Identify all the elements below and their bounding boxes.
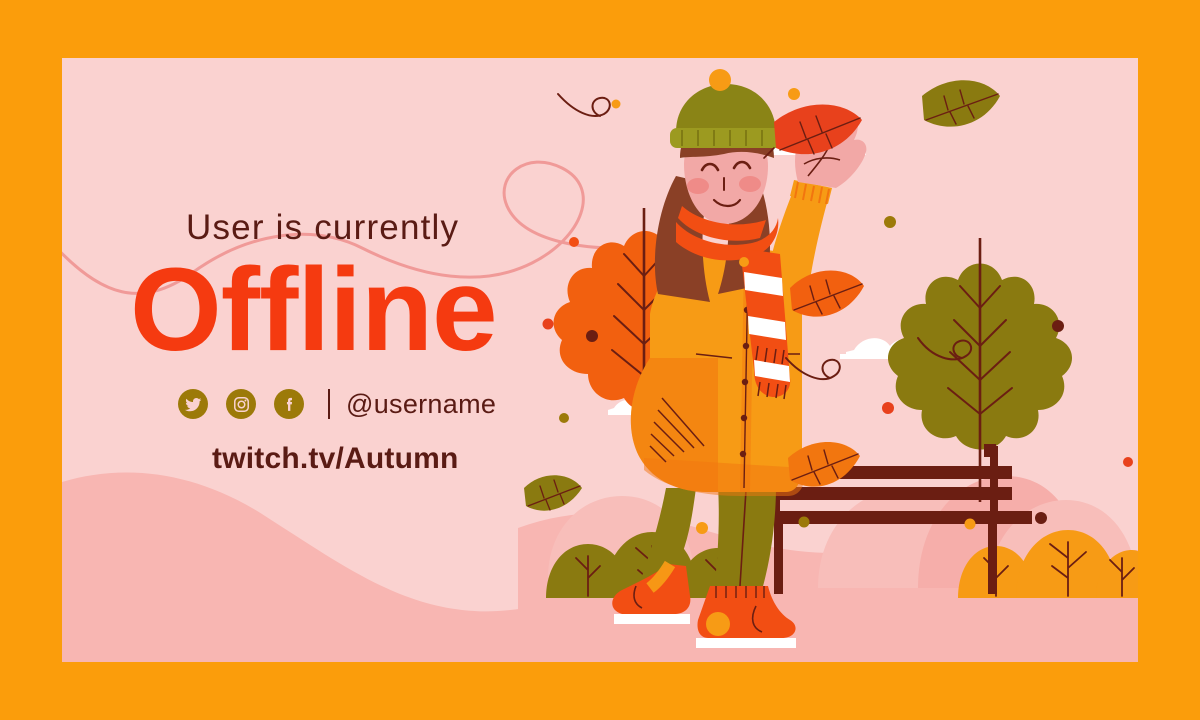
olive-tree bbox=[888, 238, 1072, 502]
username-handle: @username bbox=[346, 389, 496, 420]
facebook-icon[interactable] bbox=[274, 389, 304, 419]
channel-url[interactable]: twitch.tv/Autumn bbox=[212, 442, 630, 476]
leaf-olive-top-right bbox=[922, 80, 1000, 126]
instagram-icon[interactable] bbox=[226, 389, 256, 419]
page-title: Offline bbox=[130, 250, 630, 370]
social-divider bbox=[328, 389, 330, 419]
page-subtitle: User is currently bbox=[186, 208, 630, 248]
offline-text-block: User is currently Offline bbox=[130, 208, 630, 476]
twitter-icon[interactable] bbox=[178, 389, 208, 419]
social-links-row: @username bbox=[178, 389, 630, 420]
swirl-top-left bbox=[558, 94, 610, 116]
leaf-olive-left bbox=[524, 475, 582, 510]
banner-card: User is currently Offline bbox=[62, 58, 1138, 662]
banner-canvas: User is currently Offline bbox=[0, 0, 1200, 720]
